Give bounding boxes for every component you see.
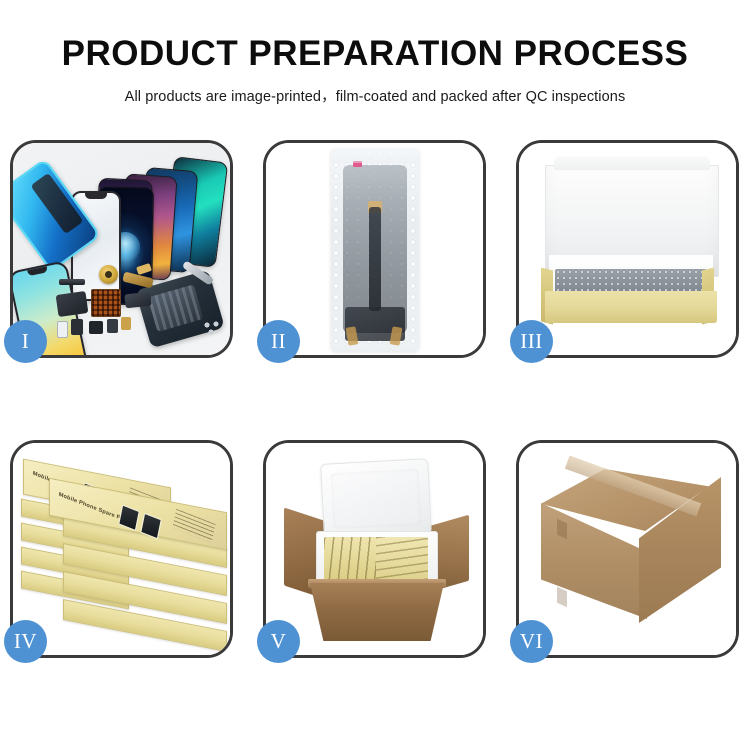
step-badge-3: III [510, 320, 553, 363]
scene-phones-and-parts [13, 143, 230, 355]
earpiece-bar-part [59, 279, 85, 285]
page-title: PRODUCT PREPARATION PROCESS [0, 0, 750, 71]
scene-stacked-boxes: Mobile Phone Spare Parts Mobile Phone Sp… [13, 443, 230, 655]
copper-grid-board-part [91, 289, 121, 317]
process-step-panel-5[interactable]: V [263, 440, 486, 658]
scene-bubble-wrap-bag [266, 143, 483, 355]
box-speclines-front [172, 509, 215, 543]
scene-carton-with-foam [266, 443, 483, 655]
screws-group [203, 321, 223, 335]
gold-tab-right [389, 326, 402, 345]
chip-part-4 [121, 317, 131, 330]
scene-sealed-carton [519, 443, 736, 655]
process-step-panel-2[interactable]: II [263, 140, 486, 358]
step-badge-4: IV [4, 620, 47, 663]
step-badge-5: V [257, 620, 300, 663]
panel-image-4: Mobile Phone Spare Parts Mobile Phone Sp… [13, 443, 230, 655]
chip-part-6 [136, 263, 152, 275]
packed-yellow-boxes [324, 537, 428, 585]
panel-image-3 [519, 143, 736, 355]
page-subtitle: All products are image-printed，film-coat… [0, 71, 750, 106]
box-front-panel [545, 291, 717, 323]
sealed-shipping-carton [533, 469, 729, 639]
bag-seal-strip [331, 149, 419, 163]
carton-body [310, 583, 444, 641]
gold-tab-left [345, 326, 358, 345]
spare-parts-cluster [51, 263, 201, 349]
box-thumb-front-1 [118, 504, 140, 531]
process-step-panel-4[interactable]: Mobile Phone Spare Parts Mobile Phone Sp… [10, 440, 233, 658]
chip-part-5 [57, 321, 68, 338]
panel-image-6 [519, 443, 736, 655]
scene-open-yellow-box [519, 143, 736, 355]
bubble-wrap-bag [331, 149, 419, 351]
process-step-panel-6[interactable]: VI [516, 440, 739, 658]
page-header: PRODUCT PREPARATION PROCESS All products… [0, 0, 750, 106]
chip-part-1 [71, 319, 83, 335]
foam-box-lid [320, 458, 432, 540]
process-step-panel-3[interactable]: III [516, 140, 739, 358]
process-step-grid: I II [10, 140, 740, 658]
chip-part-2 [89, 321, 103, 334]
step-badge-6: VI [510, 620, 553, 663]
flex-ribbon [369, 207, 381, 311]
box-stack: Mobile Phone Spare Parts Mobile Phone Sp… [19, 461, 230, 651]
chip-part-3 [107, 319, 118, 333]
step-badge-1: I [4, 320, 47, 363]
panel-image-2 [266, 143, 483, 355]
panel-image-5 [266, 443, 483, 655]
flex-cable-c-part [124, 292, 151, 309]
step-badge-2: II [257, 320, 300, 363]
carton-seam-lower [557, 587, 567, 607]
panel-image-1 [13, 143, 230, 355]
flex-cable-a-part [56, 291, 89, 317]
speaker-part [99, 265, 118, 284]
process-step-panel-1[interactable]: I [10, 140, 233, 358]
